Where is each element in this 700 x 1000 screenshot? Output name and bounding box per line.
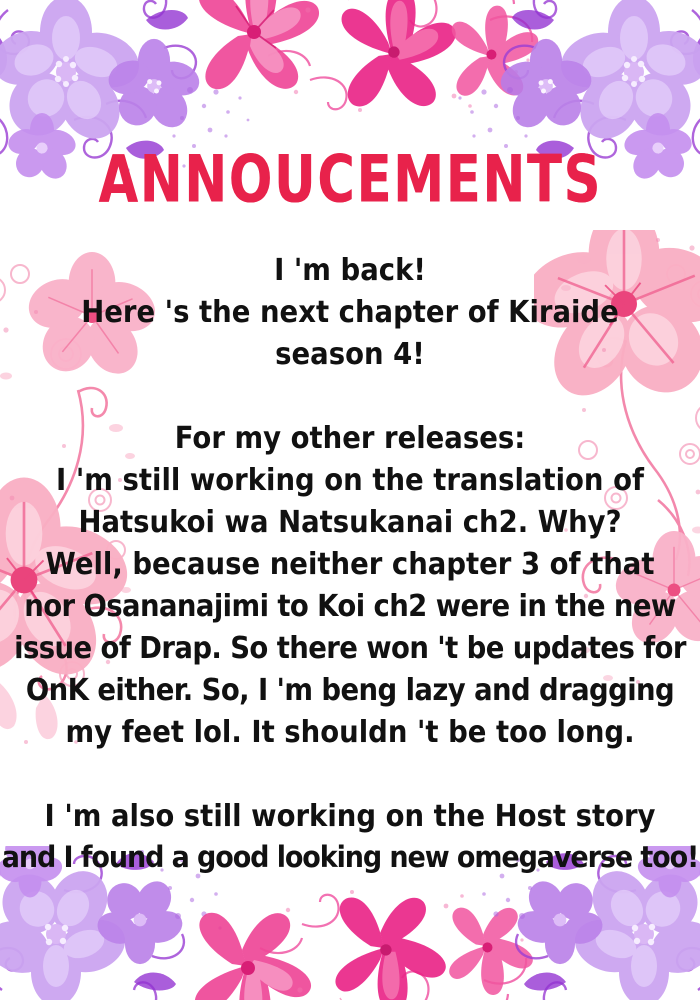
page-title: ANNOUCEMENTS	[98, 148, 602, 213]
body-line: I 'm still working on the translation of	[0, 457, 700, 503]
body-line: I 'm back!	[0, 247, 700, 293]
body-line: Hatsukoi wa Natsukanai ch2. Why?	[0, 499, 700, 545]
announcement-content: ANNOUCEMENTS I 'm back! Here 's the next…	[0, 0, 700, 1000]
announcement-body: I 'm back! Here 's the next chapter of K…	[0, 249, 700, 879]
body-line: OnK either. So, I 'm beng lazy and dragg…	[0, 667, 700, 713]
body-line-spacer	[0, 751, 700, 797]
body-line: Here 's the next chapter of Kiraide	[0, 289, 700, 335]
body-line: my feet lol. It shouldn 't be too long.	[0, 709, 700, 755]
body-line: issue of Drap. So there won 't be update…	[0, 625, 700, 671]
body-line: For my other releases:	[0, 415, 700, 461]
body-line: nor Osananajimi to Koi ch2 were in the n…	[0, 583, 700, 629]
body-line: season 4!	[0, 331, 700, 377]
body-line-spacer	[0, 373, 700, 419]
body-line: Well, because neither chapter 3 of that	[0, 541, 700, 587]
body-line: and I found a good looking new omegavers…	[0, 835, 700, 881]
announcement-page: ANNOUCEMENTS I 'm back! Here 's the next…	[0, 0, 700, 1000]
body-line: I 'm also still working on the Host stor…	[0, 793, 700, 839]
